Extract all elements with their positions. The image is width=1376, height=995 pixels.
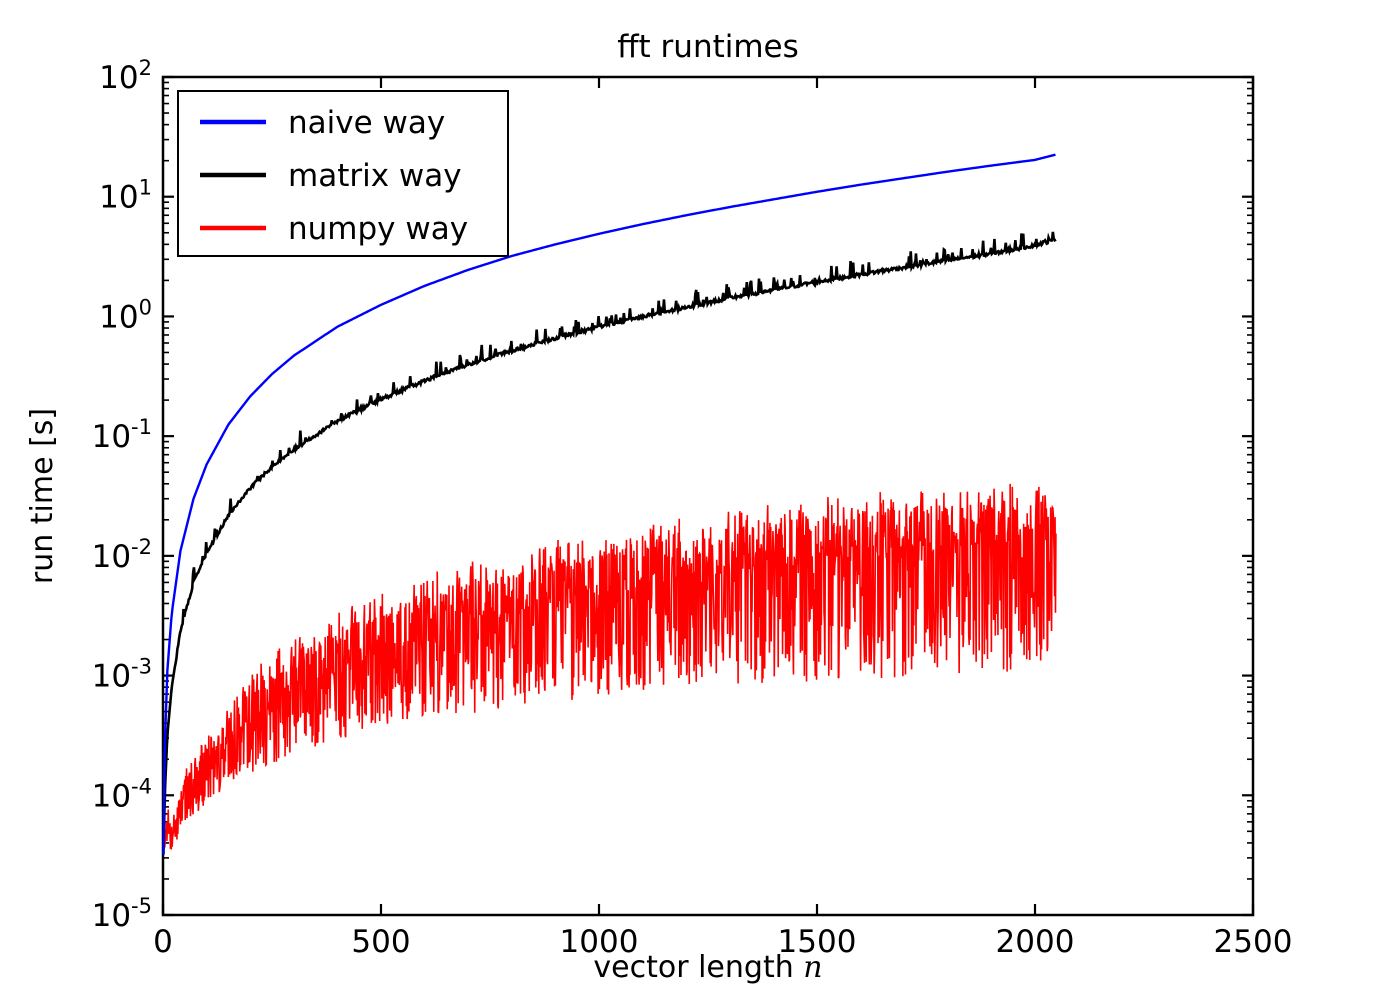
legend[interactable]: naive waymatrix waynumpy way [178, 91, 508, 256]
x-axis-label-symbol: n [803, 950, 822, 985]
plot-canvas: 10-510-410-310-210-110010110205001000150… [0, 0, 1376, 995]
legend-label: naive way [288, 105, 445, 141]
y-axis-label: run time [s] [25, 408, 60, 584]
legend-label: numpy way [288, 211, 468, 247]
x-axis-label: vector length n [593, 950, 822, 985]
x-tick-label: 2000 [996, 924, 1075, 960]
matplotlib-figure: 10-510-410-310-210-110010110205001000150… [0, 0, 1376, 995]
x-tick-label: 0 [153, 924, 173, 960]
x-tick-label: 2500 [1214, 924, 1293, 960]
chart-title: fft runtimes [617, 29, 799, 65]
x-axis-label-text: vector length [593, 950, 803, 985]
legend-label: matrix way [288, 158, 462, 194]
x-tick-label: 500 [351, 924, 410, 960]
